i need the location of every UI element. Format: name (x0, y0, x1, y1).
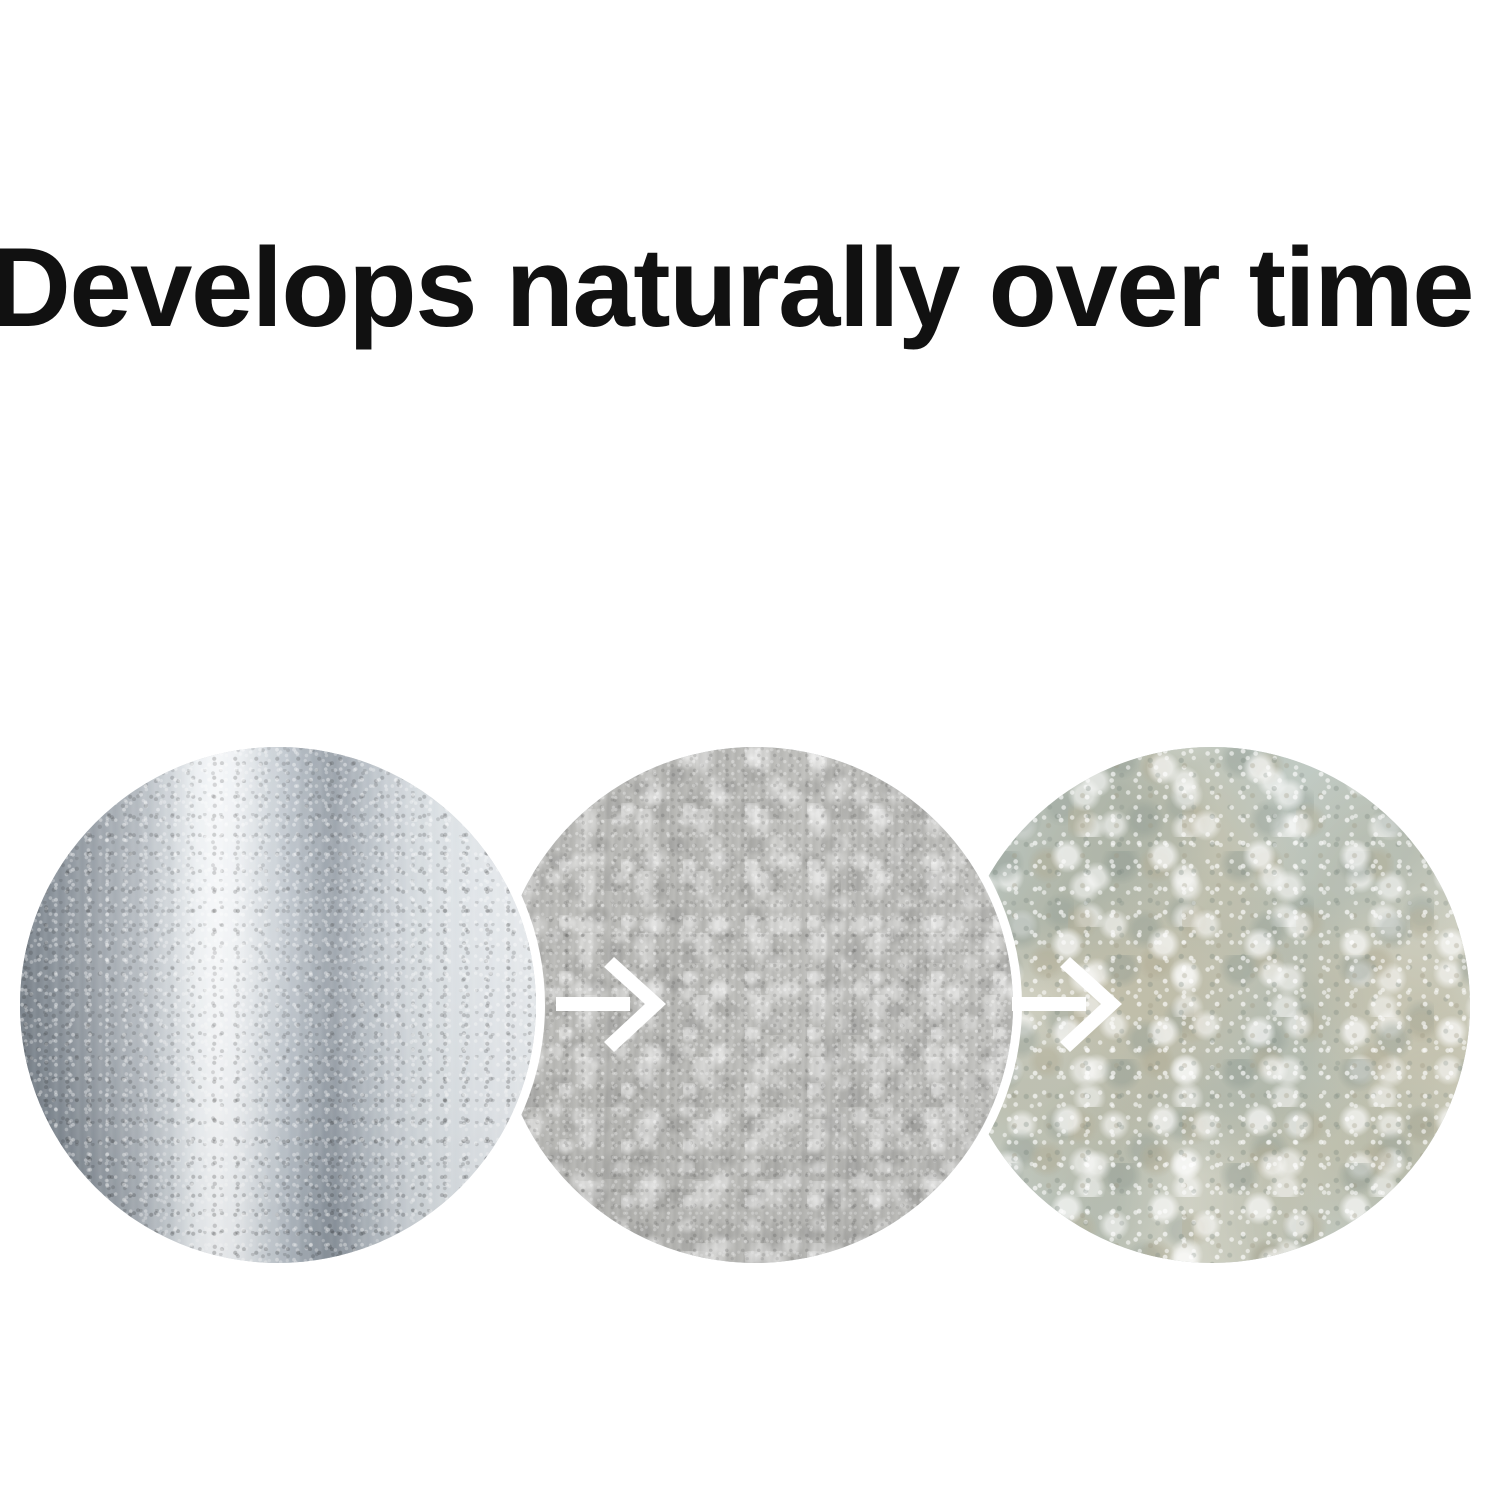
stage-2-streak-texture (497, 747, 1013, 1263)
stage-3-speck-texture (954, 747, 1470, 1263)
stage-3-swatch-patina[interactable] (954, 747, 1470, 1263)
patina-progression-diagram (0, 740, 1500, 1280)
stage-2-swatch-weathered-zinc[interactable] (497, 747, 1013, 1263)
page-title: Develops naturally over time (0, 232, 1500, 344)
stage-1-swatch-new-zinc[interactable] (20, 747, 536, 1263)
stage-1-shading (20, 747, 536, 1263)
slide-canvas: Develops naturally over time (0, 0, 1500, 1500)
